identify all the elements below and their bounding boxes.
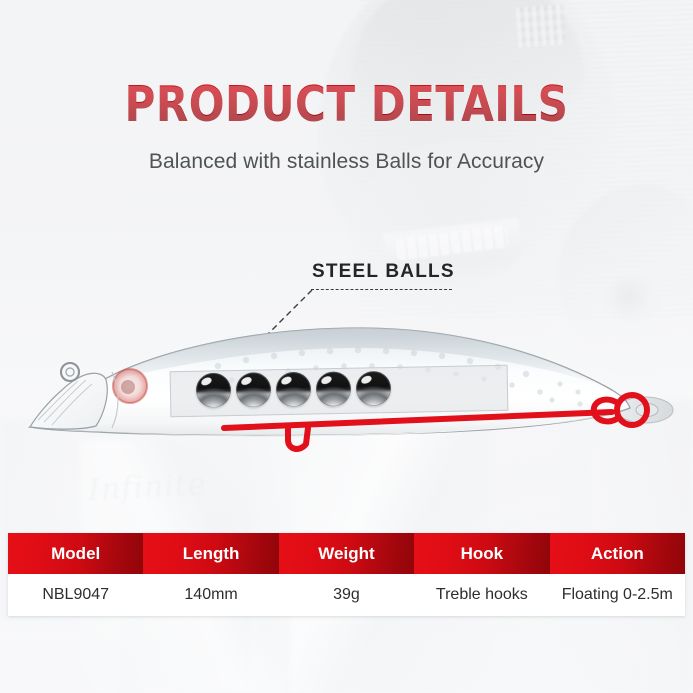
- cell-hook: Treble hooks: [414, 574, 549, 616]
- heading-block: PRODUCT DETAILS Balanced with stainless …: [0, 0, 693, 174]
- column-header-action: Action: [550, 533, 685, 574]
- steel-ball: [276, 372, 311, 407]
- product-details-page: Infinite PRODUCT DETAILS Balanced with s…: [0, 0, 693, 693]
- column-header-length: Length: [143, 533, 278, 574]
- page-title: PRODUCT DETAILS: [49, 0, 645, 129]
- lure-nose-eyelet-inner: [66, 368, 74, 376]
- spec-table-head: Model Length Weight Hook Action: [8, 533, 685, 574]
- steel-balls-group: [196, 371, 391, 408]
- steel-ball: [316, 371, 351, 406]
- cell-model: NBL9047: [8, 574, 143, 616]
- spec-table-body: NBL9047 140mm 39g Treble hooks Floating …: [8, 574, 685, 616]
- lure-nose-eyelet: [61, 363, 79, 381]
- lure-eye-pupil: [121, 380, 135, 394]
- steel-ball: [196, 373, 231, 408]
- steel-ball: [356, 371, 391, 406]
- column-header-model: Model: [8, 533, 143, 574]
- column-header-weight: Weight: [279, 533, 414, 574]
- page-subtitle: Balanced with stainless Balls for Accura…: [0, 129, 693, 174]
- cell-length: 140mm: [143, 574, 278, 616]
- spec-table-header-row: Model Length Weight Hook Action: [8, 533, 685, 574]
- spec-table: Model Length Weight Hook Action NBL9047 …: [8, 533, 685, 616]
- steel-ball: [236, 372, 271, 407]
- cell-weight: 39g: [279, 574, 414, 616]
- cell-action: Floating 0-2.5m: [550, 574, 685, 616]
- column-header-hook: Hook: [414, 533, 549, 574]
- fishing-lure-illustration: [0, 280, 693, 500]
- table-row: NBL9047 140mm 39g Treble hooks Floating …: [8, 574, 685, 616]
